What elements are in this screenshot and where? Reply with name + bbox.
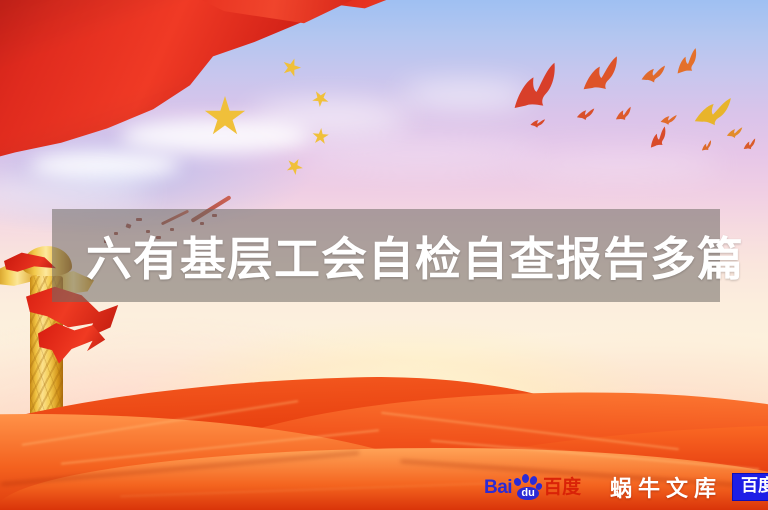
flag-star-small — [283, 155, 306, 178]
title-overlay-band: 六有基层工会自检自查报告多篇 — [52, 209, 720, 302]
banner-image: 六有基层工会自检自查报告多篇 Bai du 百度 蜗牛文库 百度一下 — [0, 0, 768, 510]
flag-star-small — [309, 87, 333, 111]
baidu-search-button[interactable]: 百度一下 — [732, 473, 768, 502]
bird-icon — [613, 105, 634, 122]
bird-icon — [575, 51, 628, 99]
page-title: 六有基层工会自检自查报告多篇 — [52, 223, 744, 289]
flag-star-small — [311, 127, 329, 145]
baidu-logo-latin: Bai — [484, 478, 512, 497]
flag-shading — [0, 0, 420, 210]
baidu-paw-icon: du — [512, 474, 542, 500]
flag-star-large — [204, 96, 246, 138]
baidu-paw-label: du — [517, 487, 539, 500]
chinese-flag — [0, 0, 420, 210]
bird-icon — [741, 137, 758, 152]
flag-star-small — [280, 56, 304, 80]
baidu-logo[interactable]: Bai du 百度 — [484, 474, 596, 500]
bird-icon — [639, 61, 669, 88]
baidu-logo-chinese: 百度 — [543, 478, 581, 497]
brand-bar: Bai du 百度 蜗牛文库 百度一下 — [484, 470, 768, 504]
cloud — [520, 150, 720, 178]
site-name: 蜗牛文库 — [610, 471, 722, 503]
bird-icon — [575, 104, 597, 123]
